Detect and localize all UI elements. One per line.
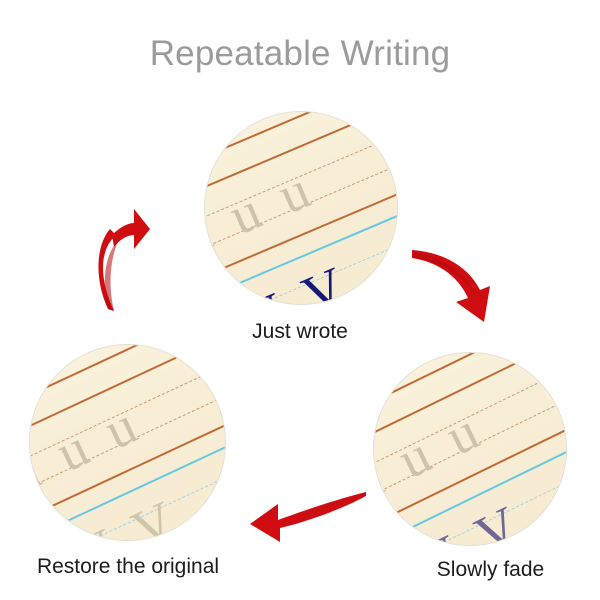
arrow-fade-to-restore-icon bbox=[248, 490, 368, 546]
template-letter: u bbox=[438, 404, 486, 464]
template-letter: u bbox=[30, 442, 47, 502]
traced-letter: V bbox=[65, 519, 123, 540]
copybook-sheet: 安 u u u u u bbox=[205, 112, 397, 304]
arrow-restore-to-write-icon bbox=[90, 205, 170, 315]
step-photo-restore-the-original: 安 u u u u u bbox=[30, 345, 225, 540]
step-caption-slowly-fade: Slowly fade bbox=[398, 558, 583, 582]
infographic-canvas: Repeatable Writing 安 u u u u bbox=[0, 0, 600, 600]
traced-letter: V bbox=[409, 526, 468, 545]
template-letter: u bbox=[374, 450, 391, 510]
traced-letter: V bbox=[235, 284, 292, 304]
template-letter: u bbox=[390, 427, 438, 487]
copybook-sheet: 安 u u u u u bbox=[30, 345, 225, 540]
step-caption-restore-the-original: Restore the original bbox=[18, 555, 238, 579]
copybook-sheet: 安 u u u u u bbox=[374, 353, 566, 545]
traced-letter: V bbox=[124, 492, 182, 540]
page-title: Repeatable Writing bbox=[0, 34, 600, 74]
arrow-write-to-fade-icon bbox=[412, 248, 512, 348]
step-photo-slowly-fade: 安 u u u u u bbox=[374, 353, 566, 545]
template-letter: u bbox=[222, 183, 268, 243]
template-letter: u bbox=[205, 204, 219, 264]
step-photo-just-wrote: 安 u u u u u bbox=[205, 112, 397, 304]
template-letter: u bbox=[48, 420, 95, 480]
traced-letter: V bbox=[295, 258, 352, 304]
